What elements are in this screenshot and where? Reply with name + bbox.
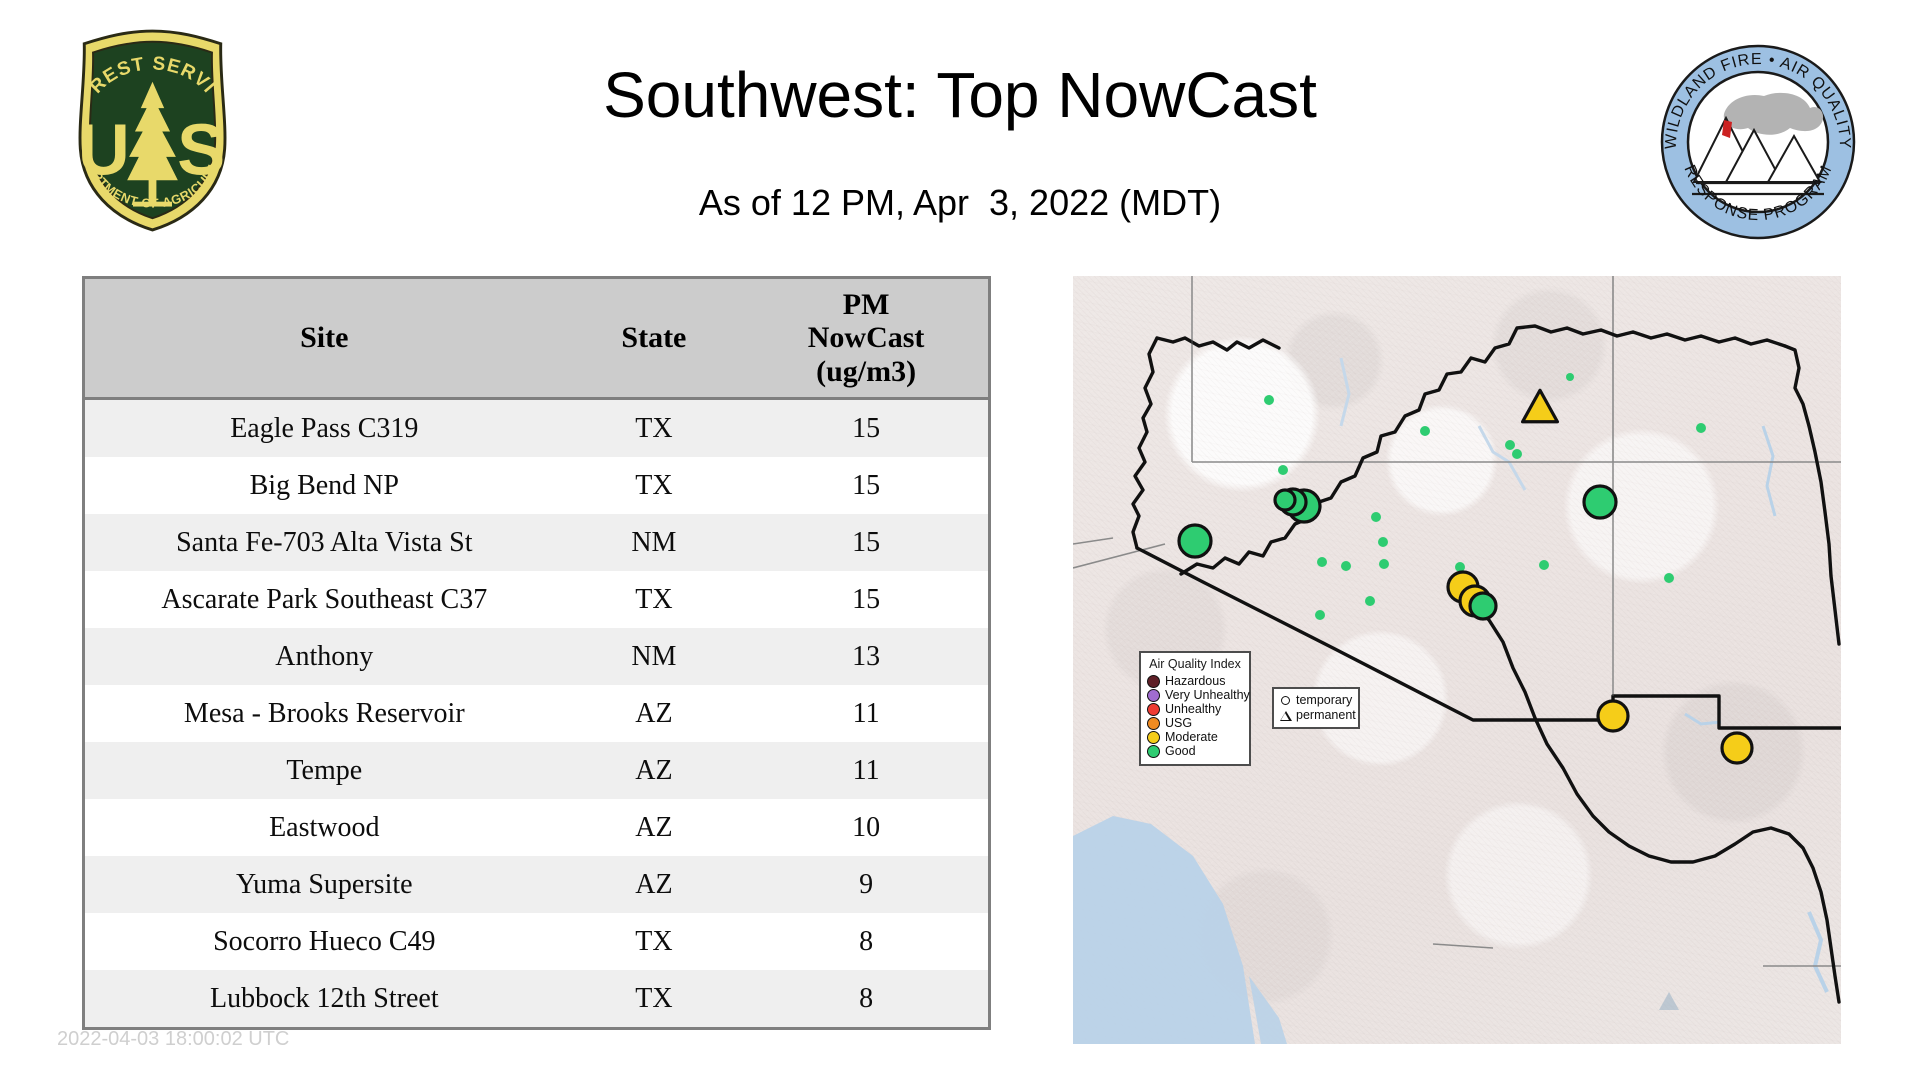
table-row[interactable]: Big Bend NPTX15 — [85, 457, 988, 514]
cell-state: TX — [564, 970, 745, 1027]
aqi-color-swatch-icon — [1147, 675, 1160, 688]
map-marker-small — [1539, 560, 1549, 570]
cell-pm-nowcast: 15 — [744, 399, 988, 458]
aqi-legend-row: Moderate — [1147, 730, 1243, 744]
aqi-legend-label: Unhealthy — [1165, 703, 1221, 716]
table-header-row: Site State PM NowCast (ug/m3) — [85, 279, 988, 399]
cell-state: TX — [564, 571, 745, 628]
cell-site: Eagle Pass C319 — [85, 399, 564, 458]
map-marker-small — [1566, 373, 1574, 381]
map-marker-temporary[interactable] — [1275, 490, 1295, 510]
monitor-type-legend: temporary permanent — [1272, 687, 1360, 729]
aqi-legend-row: Very Unhealthy — [1147, 688, 1243, 702]
cell-state: NM — [564, 628, 745, 685]
table-row[interactable]: Santa Fe-703 Alta Vista StNM15 — [85, 514, 988, 571]
cell-site: Yuma Supersite — [85, 856, 564, 913]
cell-site: Eastwood — [85, 799, 564, 856]
table-header: Site State PM NowCast (ug/m3) — [85, 279, 988, 399]
map-marker-small — [1379, 559, 1389, 569]
column-header-pm-line2: NowCast — [744, 321, 988, 355]
cell-site: Big Bend NP — [85, 457, 564, 514]
cell-pm-nowcast: 13 — [744, 628, 988, 685]
table-row[interactable]: Yuma SupersiteAZ9 — [85, 856, 988, 913]
table-row[interactable]: AnthonyNM13 — [85, 628, 988, 685]
legend-row-temporary: temporary — [1279, 693, 1353, 708]
aqi-legend-title: Air Quality Index — [1147, 657, 1243, 671]
aqi-legend-label: Hazardous — [1165, 675, 1225, 688]
permanent-triangle-icon — [1279, 709, 1292, 722]
table-row[interactable]: Lubbock 12th StreetTX8 — [85, 970, 988, 1027]
map-marker-small — [1317, 557, 1327, 567]
map-marker-layer — [1179, 373, 1752, 763]
cell-pm-nowcast: 15 — [744, 514, 988, 571]
aqi-legend-label: Moderate — [1165, 731, 1218, 744]
top-nowcast-table: Site State PM NowCast (ug/m3) Eagle Pass… — [85, 279, 988, 1027]
cell-pm-nowcast: 11 — [744, 685, 988, 742]
aqi-legend-label: Very Unhealthy — [1165, 689, 1250, 702]
aqi-legend-row: USG — [1147, 716, 1243, 730]
aqi-color-swatch-icon — [1147, 689, 1160, 702]
cell-site: Socorro Hueco C49 — [85, 913, 564, 970]
aqi-color-swatch-icon — [1147, 703, 1160, 716]
cell-pm-nowcast: 11 — [744, 742, 988, 799]
page-title: Southwest: Top NowCast — [0, 58, 1920, 132]
map-marker-small — [1664, 573, 1674, 583]
column-header-pm-line1: PM — [744, 288, 988, 322]
cell-state: TX — [564, 457, 745, 514]
legend-label-permanent: permanent — [1296, 709, 1356, 722]
column-header-pm-nowcast[interactable]: PM NowCast (ug/m3) — [744, 279, 988, 399]
map-terrain-marker — [1659, 992, 1679, 1010]
cell-pm-nowcast: 10 — [744, 799, 988, 856]
map-marker-small — [1505, 440, 1515, 450]
map-marker-small — [1371, 512, 1381, 522]
map-marker-small — [1696, 423, 1706, 433]
map-marker-temporary[interactable] — [1179, 525, 1211, 557]
aqi-legend-row: Unhealthy — [1147, 702, 1243, 716]
table-row[interactable]: EastwoodAZ10 — [85, 799, 988, 856]
map-marker-temporary[interactable] — [1722, 733, 1752, 763]
cell-site: Anthony — [85, 628, 564, 685]
cell-state: AZ — [564, 856, 745, 913]
cell-pm-nowcast: 15 — [744, 457, 988, 514]
cell-site: Mesa - Brooks Reservoir — [85, 685, 564, 742]
southwest-aqi-map[interactable]: Air Quality Index HazardousVery Unhealth… — [1073, 276, 1841, 1044]
column-header-state[interactable]: State — [564, 279, 745, 399]
aqi-legend-row: Hazardous — [1147, 674, 1243, 688]
cell-site: Lubbock 12th Street — [85, 970, 564, 1027]
cell-state: AZ — [564, 742, 745, 799]
cell-state: NM — [564, 514, 745, 571]
map-marker-small — [1420, 426, 1430, 436]
map-marker-temporary[interactable] — [1584, 486, 1616, 518]
cell-state: AZ — [564, 799, 745, 856]
cell-pm-nowcast: 15 — [744, 571, 988, 628]
temporary-circle-icon — [1279, 694, 1292, 707]
cell-state: AZ — [564, 685, 745, 742]
map-marker-small — [1264, 395, 1274, 405]
map-marker-permanent[interactable] — [1523, 390, 1558, 421]
map-marker-small — [1512, 449, 1522, 459]
table-body: Eagle Pass C319TX15Big Bend NPTX15Santa … — [85, 399, 988, 1028]
map-marker-temporary[interactable] — [1470, 593, 1496, 619]
table-row[interactable]: TempeAZ11 — [85, 742, 988, 799]
table-row[interactable]: Eagle Pass C319TX15 — [85, 399, 988, 458]
map-marker-small — [1378, 537, 1388, 547]
cell-site: Tempe — [85, 742, 564, 799]
aqi-legend: Air Quality Index HazardousVery Unhealth… — [1139, 651, 1251, 766]
table-row[interactable]: Mesa - Brooks ReservoirAZ11 — [85, 685, 988, 742]
column-header-site[interactable]: Site — [85, 279, 564, 399]
legend-row-permanent: permanent — [1279, 708, 1353, 723]
legend-label-temporary: temporary — [1296, 694, 1352, 707]
cell-site: Santa Fe-703 Alta Vista St — [85, 514, 564, 571]
aqi-legend-label: Good — [1165, 745, 1196, 758]
aqi-color-swatch-icon — [1147, 717, 1160, 730]
aqi-color-swatch-icon — [1147, 731, 1160, 744]
map-marker-temporary[interactable] — [1598, 701, 1628, 731]
cell-state: TX — [564, 913, 745, 970]
map-minor-grid — [1192, 276, 1613, 696]
map-marker-small — [1315, 610, 1325, 620]
top-nowcast-table-container: Site State PM NowCast (ug/m3) Eagle Pass… — [82, 276, 991, 1030]
map-marker-small — [1365, 596, 1375, 606]
map-marker-small — [1278, 465, 1288, 475]
aqi-legend-label: USG — [1165, 717, 1192, 730]
cell-site: Ascarate Park Southeast C37 — [85, 571, 564, 628]
table-row[interactable]: Socorro Hueco C49TX8 — [85, 913, 988, 970]
footer-timestamp: 2022-04-03 18:00:02 UTC — [57, 1028, 289, 1051]
page-subtitle: As of 12 PM, Apr 3, 2022 (MDT) — [0, 182, 1920, 224]
cell-pm-nowcast: 9 — [744, 856, 988, 913]
column-header-pm-line3: (ug/m3) — [744, 355, 988, 389]
cell-pm-nowcast: 8 — [744, 970, 988, 1027]
aqi-legend-row: Good — [1147, 744, 1243, 758]
cell-state: TX — [564, 399, 745, 458]
aqi-color-swatch-icon — [1147, 745, 1160, 758]
cell-pm-nowcast: 8 — [744, 913, 988, 970]
map-marker-small — [1341, 561, 1351, 571]
table-row[interactable]: Ascarate Park Southeast C37TX15 — [85, 571, 988, 628]
